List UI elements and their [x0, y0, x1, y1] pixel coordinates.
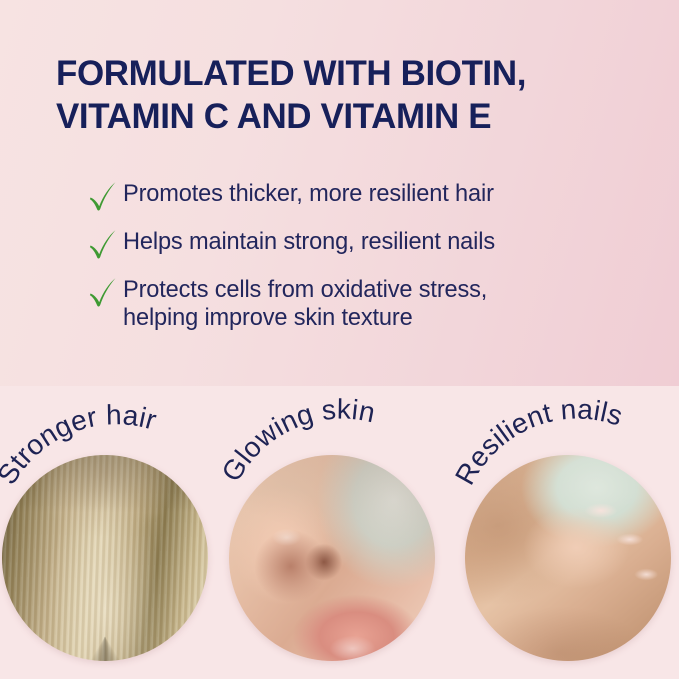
benefit-item-nails: Helps maintain strong, resilient nails [88, 226, 648, 261]
check-icon [88, 227, 118, 261]
nails-photo [465, 455, 671, 661]
benefit-label: Helps maintain strong, resilient nails [123, 226, 495, 257]
check-icon [88, 179, 118, 213]
skin-photo [229, 455, 435, 661]
benefits-panel: FORMULATED WITH BIOTIN, VITAMIN C AND VI… [0, 0, 679, 386]
infographic-page: FORMULATED WITH BIOTIN, VITAMIN C AND VI… [0, 0, 679, 679]
benefit-item-hair: Promotes thicker, more resilient hair [88, 178, 648, 213]
hair-photo [2, 455, 208, 661]
benefit-label: Protects cells from oxidative stress, he… [123, 274, 487, 332]
benefit-item-skin: Protects cells from oxidative stress, he… [88, 274, 648, 332]
benefit-label: Promotes thicker, more resilient hair [123, 178, 494, 209]
results-gallery: Stronger hair Glowing skin [0, 386, 679, 679]
benefits-list: Promotes thicker, more resilient hair He… [88, 178, 648, 345]
page-title: FORMULATED WITH BIOTIN, VITAMIN C AND VI… [56, 52, 647, 138]
check-icon [88, 275, 118, 309]
